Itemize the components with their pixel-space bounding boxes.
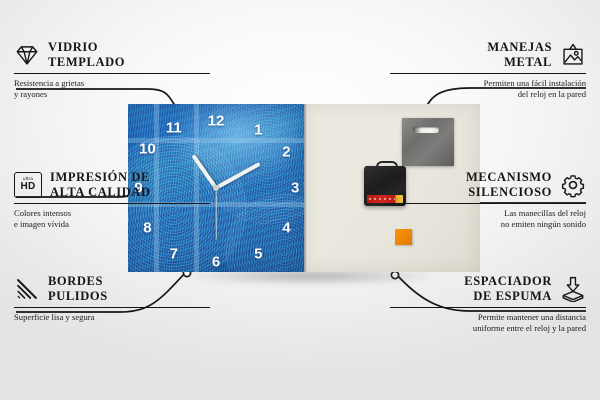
callout-title-line2: ALTA CALIDAD (50, 185, 151, 200)
callout-espaciador-de-espuma: ESPACIADOR DE ESPUMA Permite mantener un… (390, 274, 586, 334)
callout-divider (14, 203, 210, 205)
diamond-icon (14, 42, 40, 68)
clock-numeral: 7 (170, 246, 178, 261)
callout-desc-line2: del reloj en la pared (390, 89, 586, 100)
callout-desc-line1: Resistencia a grietas (14, 78, 210, 89)
callout-title-line1: MECANISMO (466, 170, 552, 185)
clock-numeral: 11 (166, 120, 182, 135)
callout-title-line1: VIDRIO (48, 40, 125, 55)
ultra-hd-icon: ultra HD (14, 172, 42, 198)
gear-icon (560, 172, 586, 198)
callout-divider (14, 73, 210, 75)
infographic-canvas: 12 1 2 3 4 5 6 7 8 9 10 11 (0, 0, 600, 400)
callout-desc-line2: uniforme entre el reloj y la pared (390, 323, 586, 334)
callout-impresion-alta-calidad: ultra HD IMPRESIÓN DE ALTA CALIDAD Color… (14, 170, 210, 230)
orange-foam-spacer (395, 229, 412, 245)
clock-numeral: 6 (212, 254, 220, 269)
callout-divider (390, 73, 586, 75)
callout-divider (390, 307, 586, 309)
callout-bordes-pulidos: BORDES PULIDOS Superficie lisa y segura (14, 274, 210, 323)
callout-desc-line1: Colores intensos (14, 208, 210, 219)
metal-hanger-plate (402, 118, 454, 166)
callout-title-line2: TEMPLADO (48, 55, 125, 70)
callout-mecanismo-silencioso: MECANISMO SILENCIOSO Las manecillas del … (390, 170, 586, 230)
callout-title-line1: BORDES (48, 274, 108, 289)
callout-title-line1: ESPACIADOR (464, 274, 552, 289)
callout-desc-line1: Permiten una fácil instalación (390, 78, 586, 89)
clock-numeral: 10 (139, 142, 156, 157)
clock-numeral: 4 (282, 221, 290, 236)
callout-title-line2: METAL (487, 55, 552, 70)
second-hand (215, 188, 216, 240)
foam-spacer-arrow-icon (560, 276, 586, 302)
callout-manejas-metal: MANEJAS METAL Permiten una fácil instala… (390, 40, 586, 100)
callout-desc-line1: Permite mantener una distancia (390, 312, 586, 323)
clock-numeral: 12 (208, 114, 225, 129)
callout-title-line2: DE ESPUMA (464, 289, 552, 304)
clock-numeral: 5 (254, 246, 262, 261)
clock-numeral: 2 (282, 145, 290, 160)
clock-numeral: 1 (254, 123, 262, 138)
picture-frame-hanging-icon (560, 42, 586, 68)
callout-title-line2: PULIDOS (48, 289, 108, 304)
callout-title-line1: IMPRESIÓN DE (50, 170, 151, 185)
callout-desc-line2: e imagen vívida (14, 219, 210, 230)
callout-vidrio-templado: VIDRIO TEMPLADO Resistencia a grietas y … (14, 40, 210, 100)
callout-desc-line1: Las manecillas del reloj (390, 208, 586, 219)
callout-desc-line1: Superficie lisa y segura (14, 312, 210, 323)
clock-hands-hub (213, 185, 219, 191)
callout-desc-line2: no emiten ningún sonido (390, 219, 586, 230)
beveled-edge-icon (14, 276, 40, 302)
callout-divider (390, 203, 586, 205)
ultra-hd-icon-big-text: HD (20, 182, 35, 192)
callout-divider (14, 307, 210, 309)
clock-numeral: 3 (291, 181, 299, 196)
callout-title-line1: MANEJAS (487, 40, 552, 55)
callout-title-line2: SILENCIOSO (466, 185, 552, 200)
callout-desc-line2: y rayones (14, 89, 210, 100)
